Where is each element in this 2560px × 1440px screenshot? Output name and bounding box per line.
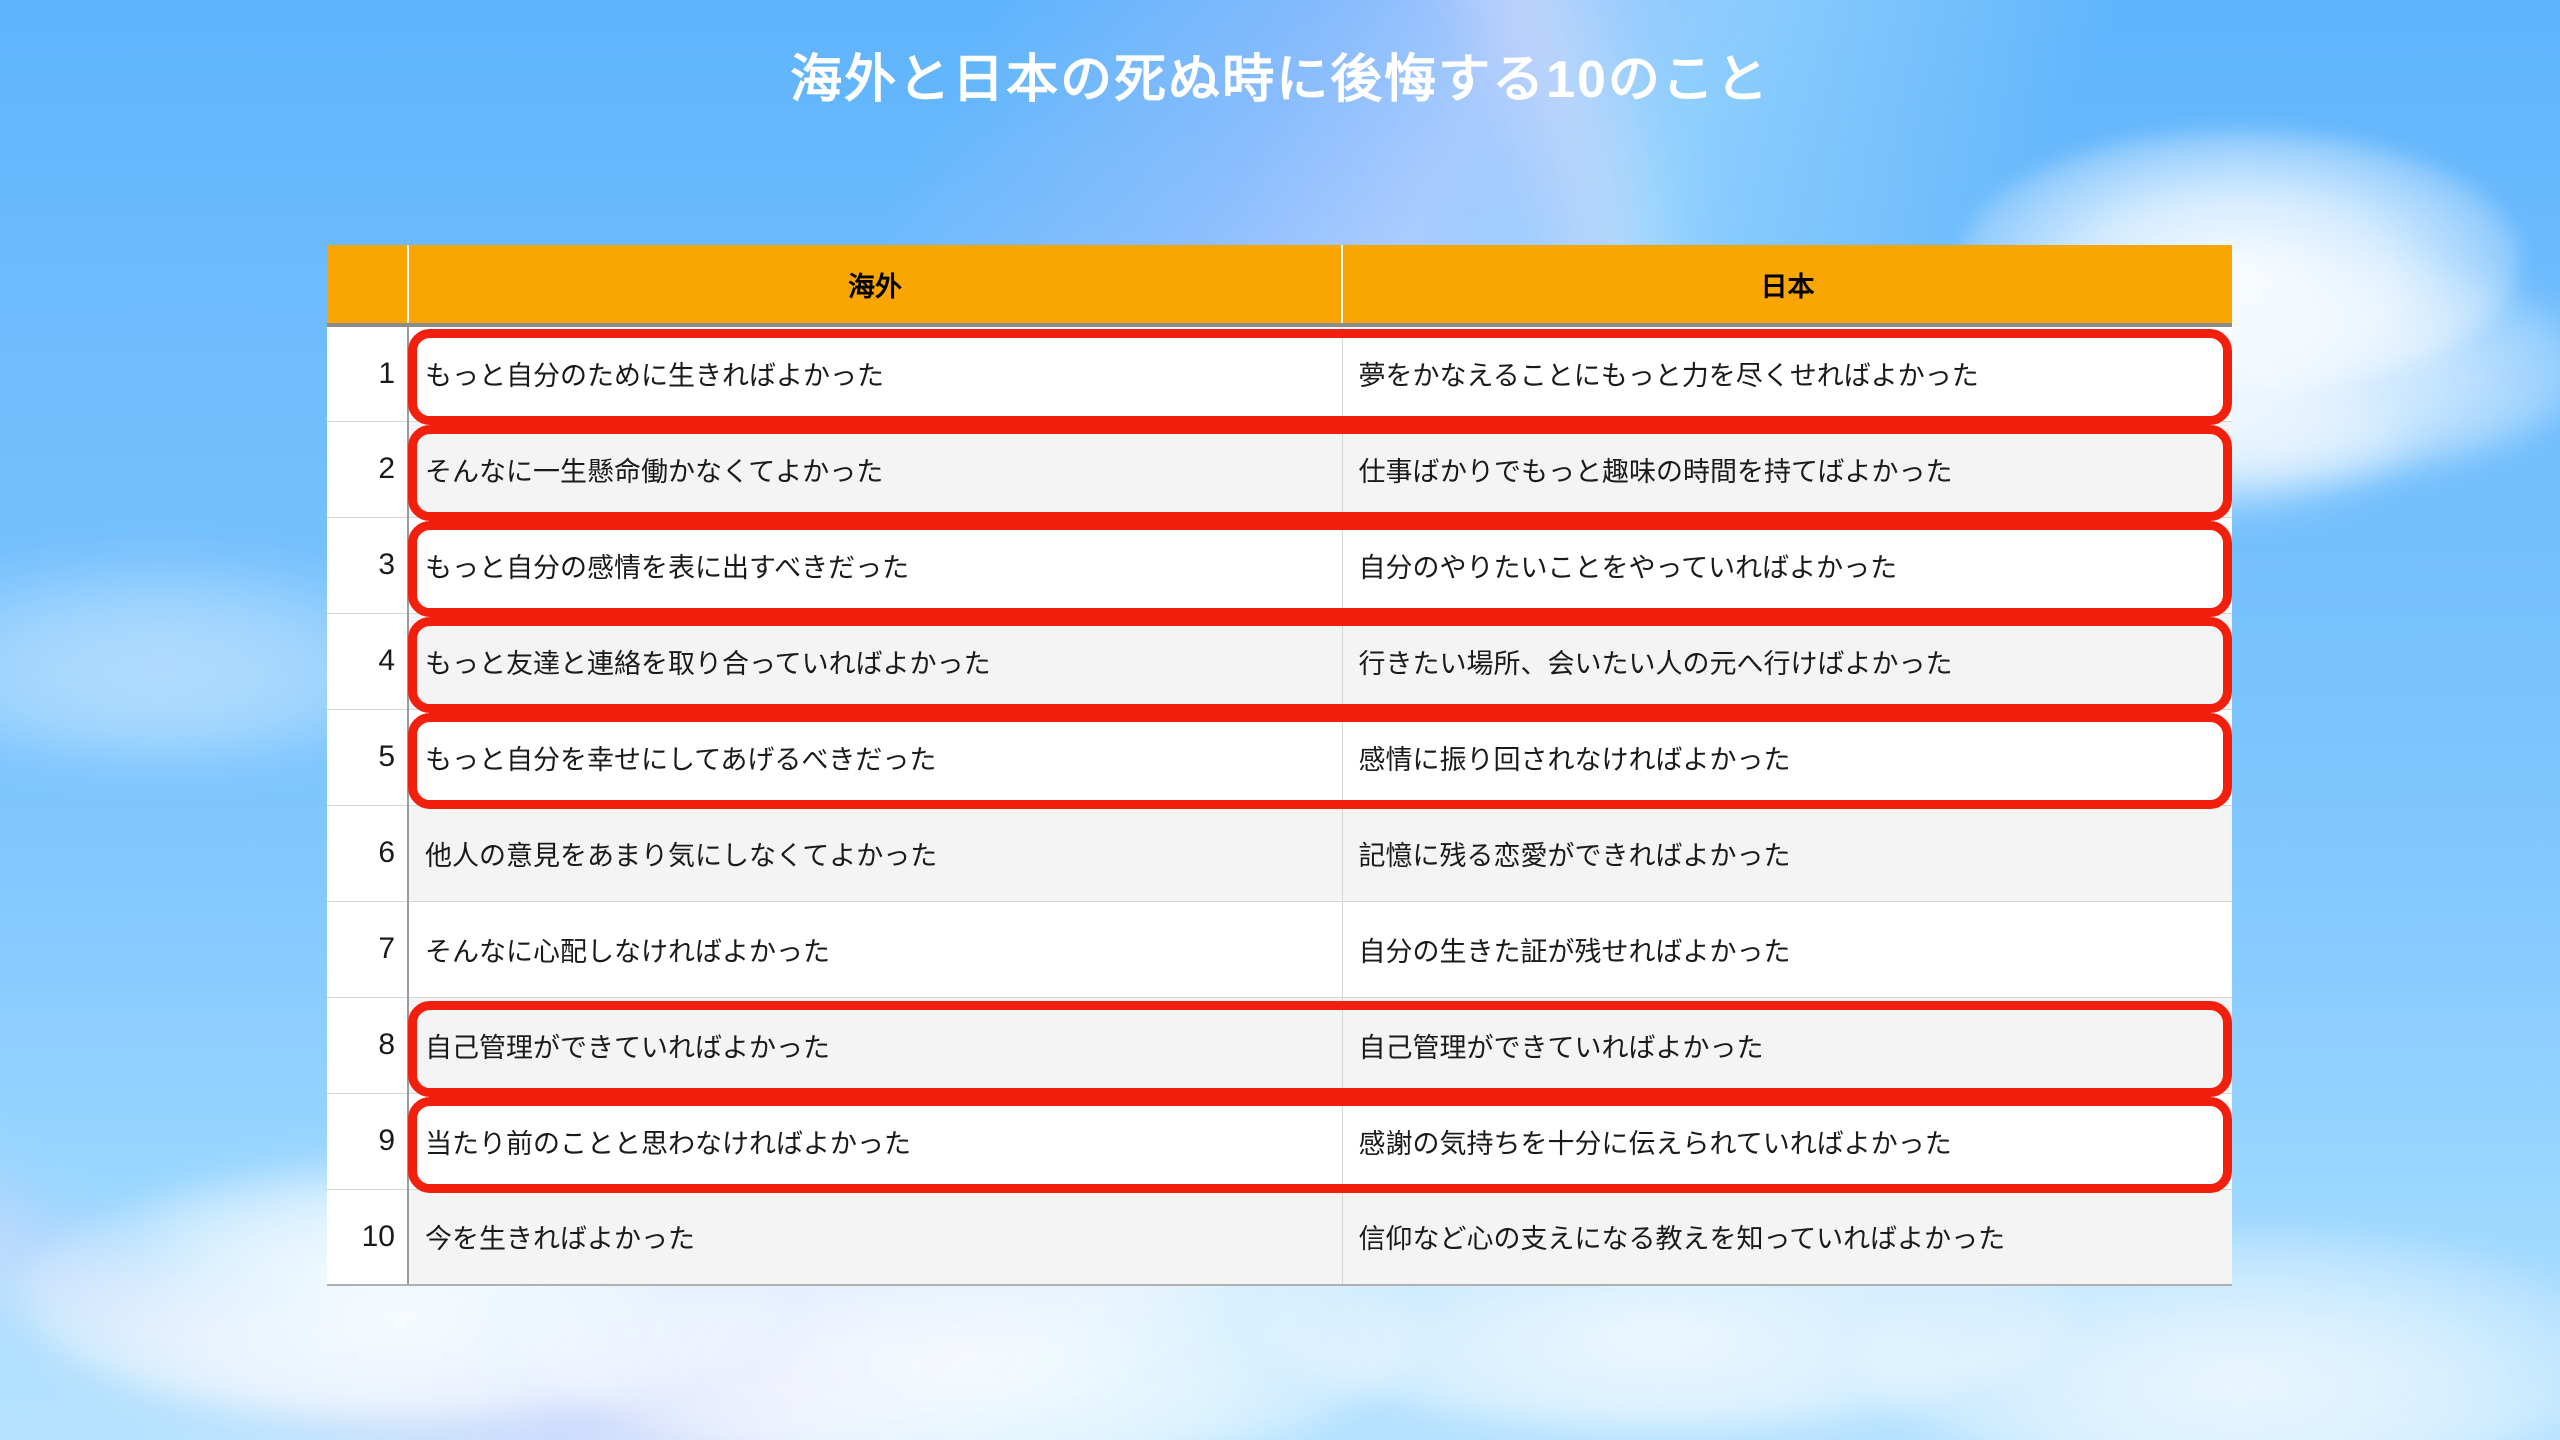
cell-japan: 自分のやりたいことをやっていればよかった <box>1342 517 2232 613</box>
page-title: 海外と日本の死ぬ時に後悔する10のこと <box>0 52 2560 109</box>
table-row: 9当たり前のことと思わなければよかった感謝の気持ちを十分に伝えられていればよかっ… <box>327 1093 2232 1189</box>
row-rank-number: 3 <box>327 517 408 613</box>
table-row: 1もっと自分のために生きればよかった夢をかなえることにもっと力を尽くせればよかっ… <box>327 325 2232 421</box>
row-rank-number: 5 <box>327 709 408 805</box>
cell-overseas: 自己管理ができていればよかった <box>408 997 1342 1093</box>
cell-overseas: 他人の意見をあまり気にしなくてよかった <box>408 805 1342 901</box>
table-row: 4もっと友達と連絡を取り合っていればよかった行きたい場所、会いたい人の元へ行けば… <box>327 613 2232 709</box>
cell-overseas: そんなに心配しなければよかった <box>408 901 1342 997</box>
cell-overseas: もっと自分を幸せにしてあげるべきだった <box>408 709 1342 805</box>
cell-japan: 信仰など心の支えになる教えを知っていればよかった <box>1342 1189 2232 1285</box>
column-header-overseas: 海外 <box>408 245 1342 325</box>
column-header-rank <box>327 245 408 325</box>
row-rank-number: 10 <box>327 1189 408 1285</box>
cell-overseas: 当たり前のことと思わなければよかった <box>408 1093 1342 1189</box>
cell-japan: 行きたい場所、会いたい人の元へ行けばよかった <box>1342 613 2232 709</box>
cell-japan: 感情に振り回されなければよかった <box>1342 709 2232 805</box>
cell-japan: 感謝の気持ちを十分に伝えられていればよかった <box>1342 1093 2232 1189</box>
row-rank-number: 9 <box>327 1093 408 1189</box>
row-rank-number: 6 <box>327 805 408 901</box>
table-body: 1もっと自分のために生きればよかった夢をかなえることにもっと力を尽くせればよかっ… <box>327 325 2232 1285</box>
table-row: 10今を生きればよかった信仰など心の支えになる教えを知っていればよかった <box>327 1189 2232 1285</box>
row-rank-number: 7 <box>327 901 408 997</box>
cell-overseas: もっと自分の感情を表に出すべきだった <box>408 517 1342 613</box>
cell-japan: 夢をかなえることにもっと力を尽くせればよかった <box>1342 325 2232 421</box>
row-rank-number: 8 <box>327 997 408 1093</box>
table-row: 8自己管理ができていればよかった自己管理ができていればよかった <box>327 997 2232 1093</box>
cell-overseas: もっと友達と連絡を取り合っていればよかった <box>408 613 1342 709</box>
cell-overseas: そんなに一生懸命働かなくてよかった <box>408 421 1342 517</box>
cell-overseas: もっと自分のために生きればよかった <box>408 325 1342 421</box>
table-row: 7そんなに心配しなければよかった自分の生きた証が残せればよかった <box>327 901 2232 997</box>
table-header-row: 海外 日本 <box>327 245 2232 325</box>
comparison-table-container: 海外 日本 1もっと自分のために生きればよかった夢をかなえることにもっと力を尽く… <box>327 245 2232 1286</box>
cell-japan: 自己管理ができていればよかった <box>1342 997 2232 1093</box>
row-rank-number: 1 <box>327 325 408 421</box>
cell-japan: 自分の生きた証が残せればよかった <box>1342 901 2232 997</box>
row-rank-number: 4 <box>327 613 408 709</box>
table-row: 5もっと自分を幸せにしてあげるべきだった感情に振り回されなければよかった <box>327 709 2232 805</box>
column-header-japan: 日本 <box>1342 245 2232 325</box>
comparison-table: 海外 日本 1もっと自分のために生きればよかった夢をかなえることにもっと力を尽く… <box>327 245 2232 1286</box>
table-header: 海外 日本 <box>327 245 2232 325</box>
cell-japan: 記憶に残る恋愛ができればよかった <box>1342 805 2232 901</box>
row-rank-number: 2 <box>327 421 408 517</box>
cell-overseas: 今を生きればよかった <box>408 1189 1342 1285</box>
cell-japan: 仕事ばかりでもっと趣味の時間を持てばよかった <box>1342 421 2232 517</box>
table-row: 3もっと自分の感情を表に出すべきだった自分のやりたいことをやっていればよかった <box>327 517 2232 613</box>
table-row: 6他人の意見をあまり気にしなくてよかった記憶に残る恋愛ができればよかった <box>327 805 2232 901</box>
table-row: 2そんなに一生懸命働かなくてよかった仕事ばかりでもっと趣味の時間を持てばよかった <box>327 421 2232 517</box>
